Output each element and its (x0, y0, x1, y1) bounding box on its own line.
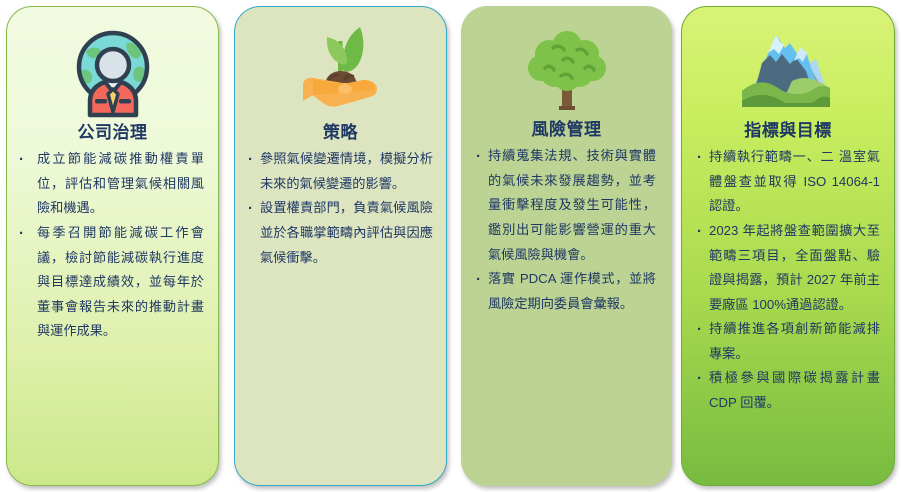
card-governance-bullets: 成立節能減碳推動權責單位，評估和管理氣候相關風險和機遇。 每季召開節能減碳工作會… (17, 147, 208, 343)
globe-person-icon (17, 7, 208, 119)
list-item: 設置權責部門，負責氣候風險並於各職掌範疇內評估與因應氣候衝擊。 (247, 196, 433, 270)
list-item: 2023 年起將盤查範圍擴大至範疇三項目，全面盤點、驗證與揭露，預計 2027 … (696, 219, 880, 317)
mountain-icon (692, 7, 884, 119)
card-metrics-targets: 指標與目標 持續執行範疇一、二 溫室氣體盤查並取得 ISO 14064-1 認證… (681, 6, 895, 486)
list-item: 參照氣候變遷情境，模擬分析未來的氣候變遷的影響。 (247, 147, 433, 196)
list-item: 落實 PDCA 運作模式，並將風險定期向委員會彙報。 (475, 267, 656, 316)
card-metrics-targets-inner: 指標與目標 持續執行範疇一、二 溫室氣體盤查並取得 ISO 14064-1 認證… (682, 7, 894, 485)
card-risk-management: 風險管理 持續蒐集法規、技術與實體的氣候未來發展趨勢，並考量衝擊程度及發生可能性… (461, 6, 672, 486)
card-title: 風險管理 (471, 120, 662, 140)
list-item: 每季召開節能減碳工作會議，檢討節能減碳執行進度與目標達成績效，並每年於董事會報告… (17, 221, 204, 344)
hand-sprout-icon (245, 7, 436, 119)
list-item: 持續執行範疇一、二 溫室氣體盤查並取得 ISO 14064-1 認證。 (696, 145, 880, 219)
list-item: 成立節能減碳推動權責單位，評估和管理氣候相關風險和機遇。 (17, 147, 204, 221)
list-item: 持續蒐集法規、技術與實體的氣候未來發展趨勢，並考量衝擊程度及發生可能性，鑑別出可… (475, 144, 656, 267)
card-governance: 公司治理 成立節能減碳推動權責單位，評估和管理氣候相關風險和機遇。 每季召開節能… (6, 6, 219, 486)
card-title: 指標與目標 (692, 121, 884, 141)
tcfd-pillars-infographic: 公司治理 成立節能減碳推動權責單位，評估和管理氣候相關風險和機遇。 每季召開節能… (0, 0, 901, 492)
card-strategy-inner: 策略 參照氣候變遷情境，模擬分析未來的氣候變遷的影響。 設置權責部門，負責氣候風… (235, 7, 446, 485)
card-strategy: 策略 參照氣候變遷情境，模擬分析未來的氣候變遷的影響。 設置權責部門，負責氣候風… (234, 6, 447, 486)
card-strategy-bullets: 參照氣候變遷情境，模擬分析未來的氣候變遷的影響。 設置權責部門，負責氣候風險並於… (245, 147, 436, 270)
list-item: 積極參與國際碳揭露計畫 CDP 回覆。 (696, 366, 880, 415)
card-title: 策略 (245, 123, 436, 143)
list-item: 持續推進各項創新節能減排專案。 (696, 317, 880, 366)
card-title: 公司治理 (17, 123, 208, 143)
card-risk-management-inner: 風險管理 持續蒐集法規、技術與實體的氣候未來發展趨勢，並考量衝擊程度及發生可能性… (461, 6, 672, 486)
card-governance-inner: 公司治理 成立節能減碳推動權責單位，評估和管理氣候相關風險和機遇。 每季召開節能… (7, 7, 218, 485)
card-metrics-targets-bullets: 持續執行範疇一、二 溫室氣體盤查並取得 ISO 14064-1 認證。 2023… (692, 145, 884, 415)
card-risk-management-bullets: 持續蒐集法規、技術與實體的氣候未來發展趨勢，並考量衝擊程度及發生可能性，鑑別出可… (471, 144, 662, 316)
tree-icon (471, 6, 662, 118)
